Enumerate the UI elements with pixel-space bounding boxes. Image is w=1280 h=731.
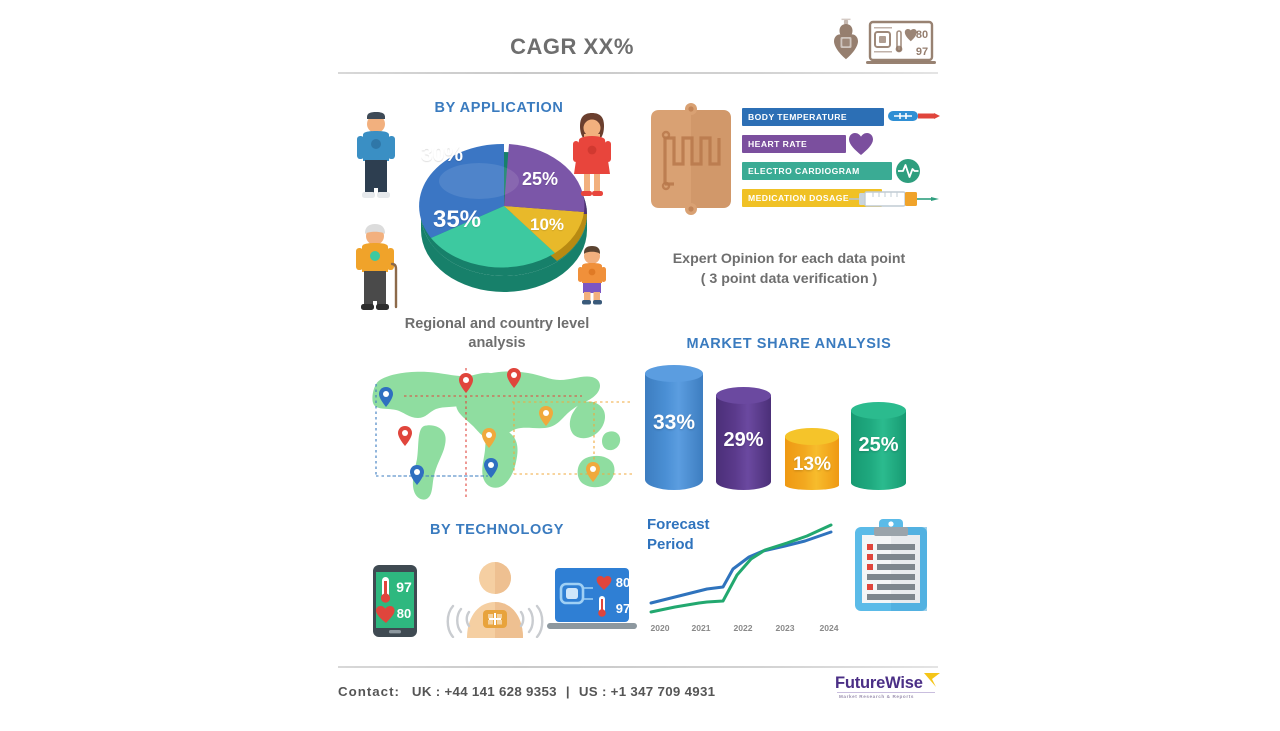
logo-tagline: Market Research & Reports xyxy=(839,694,914,699)
phone-temp-value: 97 xyxy=(396,579,412,595)
expert-opinion-text: Expert Opinion for each data point ( 3 p… xyxy=(637,250,941,289)
bar-label-2: 29% xyxy=(716,429,771,452)
contact-label: Contact: xyxy=(338,684,400,699)
forecast-line-plot xyxy=(645,519,845,623)
laptop-bpm-value: 80 xyxy=(616,575,630,590)
expert-opinion-line2: ( 3 point data verification ) xyxy=(637,270,941,290)
logo-underline xyxy=(837,692,935,693)
forecast-year-2021: 2021 xyxy=(686,623,716,633)
phone-bpm-value: 80 xyxy=(397,606,411,621)
sensor-panel: BODY TEMPERATURE HEART RATE ELECTRO CARD… xyxy=(647,102,941,220)
heart-icon xyxy=(848,131,874,157)
futurewise-logo: FutureWise Market Research & Reports xyxy=(835,672,941,706)
bar-company-4: 25% xyxy=(851,402,906,490)
forecast-series-blue xyxy=(651,532,831,603)
laptop-temp-value: 97 xyxy=(616,601,630,616)
elderly-man-icon xyxy=(353,222,401,319)
pie-label-25: 25% xyxy=(511,169,569,190)
expert-opinion-line1: Expert Opinion for each data point xyxy=(637,250,941,270)
header-divider xyxy=(338,72,938,74)
logo-text: FutureWise xyxy=(835,674,923,693)
body-sensor-icon xyxy=(445,560,545,643)
forecast-year-2024: 2024 xyxy=(814,623,844,633)
infographic-canvas: CAGR XX% xyxy=(337,0,941,731)
contact-separator: | xyxy=(566,684,570,699)
market-share-title: MARKET SHARE ANALYSIS xyxy=(637,336,941,352)
contact-line: Contact: UK : +44 141 628 9353 | US : +1… xyxy=(338,684,715,699)
skin-patch-sensor-icon xyxy=(647,102,735,216)
laptop-vitals-icon: 80 97 xyxy=(547,568,637,641)
bar-company-1: 33% xyxy=(645,365,703,490)
regional-analysis-title: Regional and country level analysis xyxy=(357,315,637,353)
contact-uk: UK : +44 141 628 9353 xyxy=(412,684,557,699)
ecg-pulse-icon xyxy=(895,158,921,184)
market-share-bar-chart: 33% 29% 13% 25% xyxy=(637,360,937,490)
footer-divider xyxy=(338,666,938,668)
technology-icons: 97 80 xyxy=(357,520,637,645)
bar-label-4: 25% xyxy=(851,434,906,457)
adult-woman-icon xyxy=(571,112,613,205)
thermometer-icon xyxy=(887,105,941,127)
pie-label-30: 30% xyxy=(411,143,473,167)
bar-company-3: 13% xyxy=(785,428,839,490)
syringe-icon xyxy=(847,188,941,210)
heart-device-icon xyxy=(834,19,858,60)
phone-thermometer xyxy=(381,577,390,603)
header: CAGR XX% xyxy=(337,14,941,74)
laptop-monitor-icon: 80 97 xyxy=(866,22,936,64)
world-map-icon xyxy=(362,358,632,513)
bar-label-3: 13% xyxy=(785,454,839,476)
regional-line1: Regional and country level xyxy=(357,315,637,334)
sensor-bar-heart-rate: HEART RATE xyxy=(742,135,846,153)
page-title: CAGR XX% xyxy=(337,34,807,60)
sensor-bar-body-temperature: BODY TEMPERATURE xyxy=(742,108,884,126)
logo-flag-icon xyxy=(923,672,941,688)
pie-label-35: 35% xyxy=(421,206,493,234)
header-watermark-icons: 80 97 xyxy=(827,16,941,70)
forecast-period-chart: Forecast Period 2020 2021 2022 2023 2024 xyxy=(637,505,941,645)
header-laptop-top-value: 80 xyxy=(916,29,928,41)
forecast-year-2022: 2022 xyxy=(728,623,758,633)
regional-line2: analysis xyxy=(357,334,637,353)
header-laptop-bottom-value: 97 xyxy=(916,46,928,58)
child-boy-icon xyxy=(577,245,607,312)
sensor-bar-electro-cardiogram: ELECTRO CARDIOGRAM xyxy=(742,162,892,180)
forecast-series-green xyxy=(651,525,831,612)
bar-label-1: 33% xyxy=(645,411,703,435)
adult-man-icon xyxy=(355,112,397,205)
smartphone-vitals-icon: 97 80 xyxy=(373,565,417,642)
bar-company-2: 29% xyxy=(716,387,771,490)
clipboard-checklist-icon xyxy=(855,519,927,616)
contact-us: US : +1 347 709 4931 xyxy=(579,684,715,699)
pie-label-10: 10% xyxy=(522,215,572,235)
forecast-year-2023: 2023 xyxy=(770,623,800,633)
forecast-year-2020: 2020 xyxy=(645,623,675,633)
